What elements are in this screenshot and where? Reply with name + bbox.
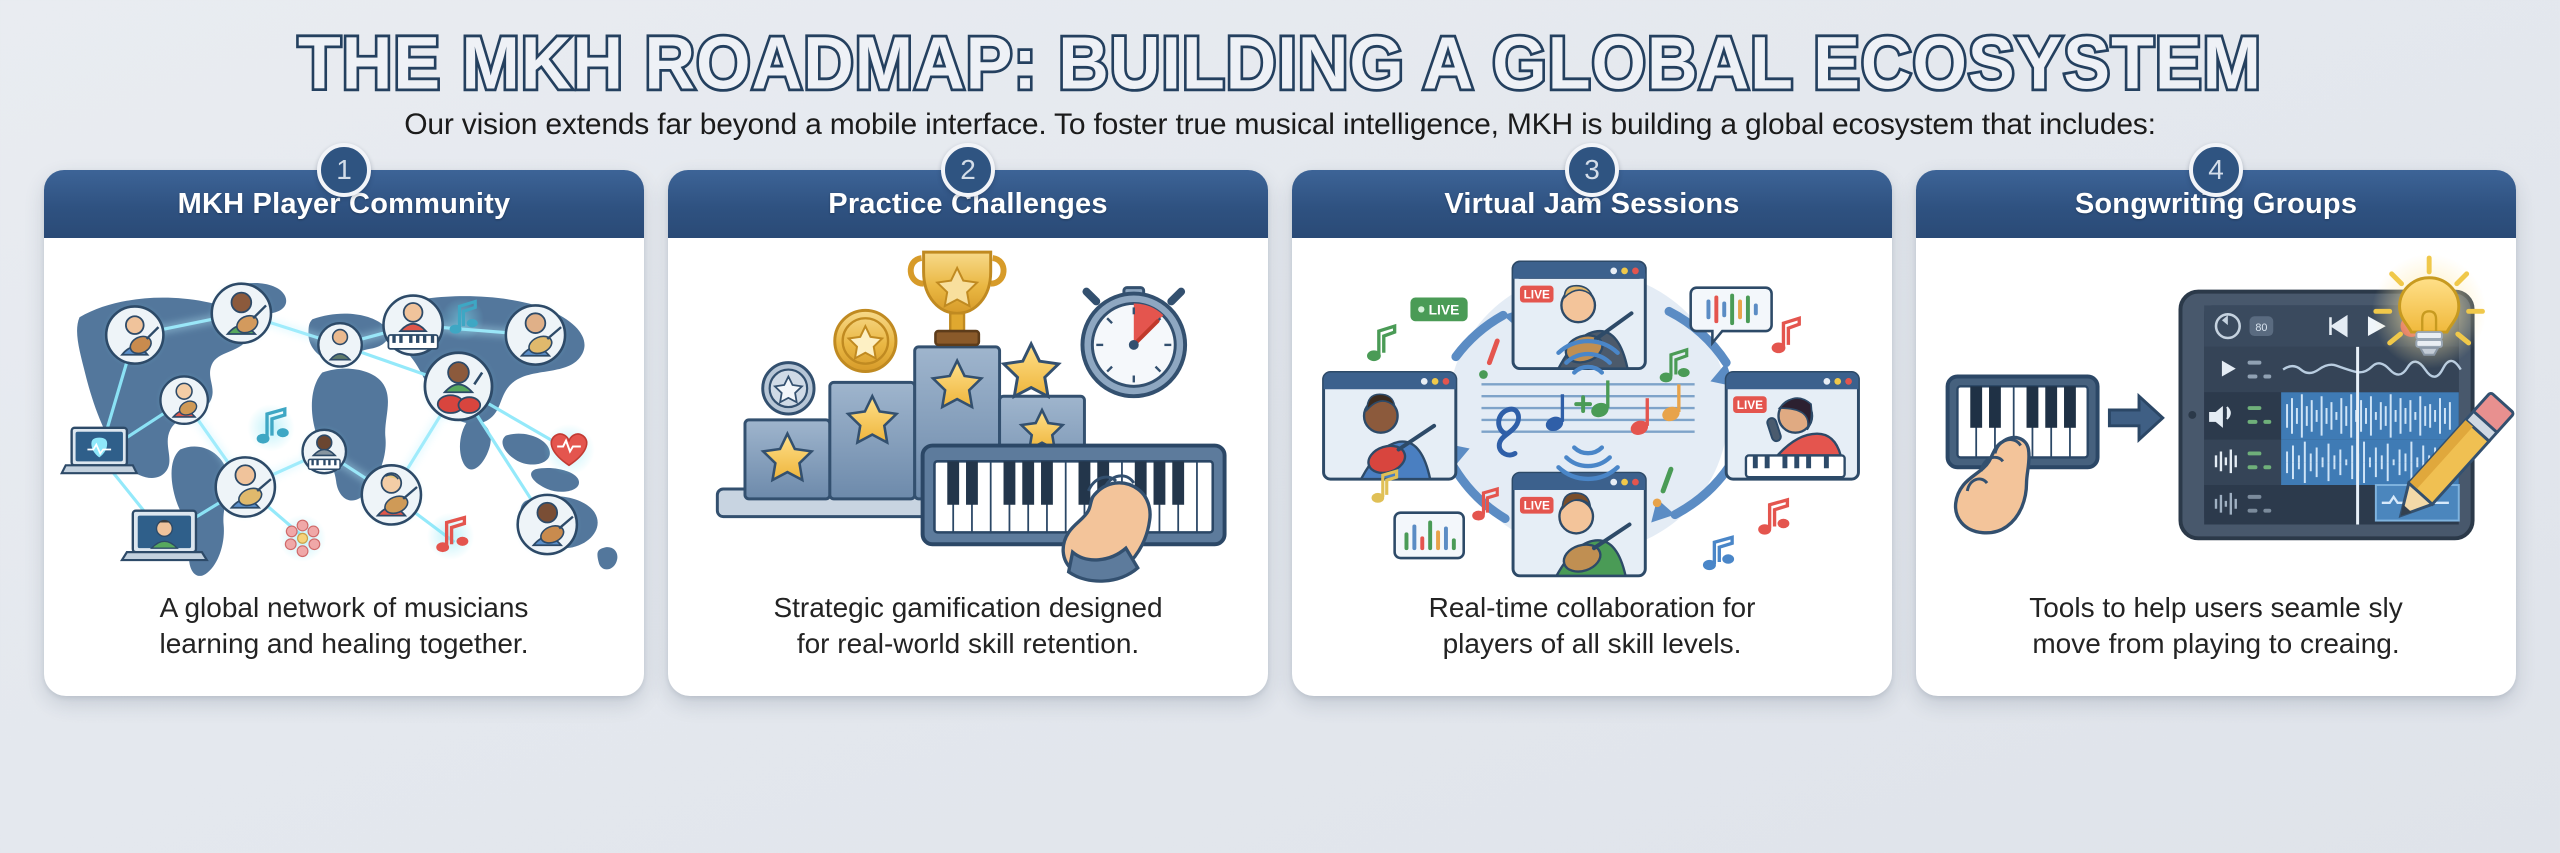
card-number-badge: 1	[317, 143, 371, 197]
video-window-guitarist-bottom: LIVE	[1513, 473, 1645, 576]
silver-medal-icon	[763, 363, 814, 414]
video-window-guitarist-top: LIVE	[1513, 262, 1645, 369]
equalizer-card-icon	[1395, 513, 1464, 558]
roadmap-card-practice[interactable]: 2 Practice Challenges	[668, 170, 1268, 696]
playhead	[2356, 347, 2359, 525]
card-caption: A global network of musicians learning a…	[44, 586, 644, 688]
page-subtitle: Our vision extends far beyond a mobile i…	[0, 108, 2560, 142]
laptop-heartbeat-icon	[62, 428, 137, 473]
live-pill-label: LIVE	[1429, 301, 1460, 317]
video-window-bassist-left	[1324, 373, 1456, 480]
illustration-world-map-network	[44, 238, 644, 586]
illustration-keyboard-to-daw: 80	[1916, 238, 2516, 586]
caption-line-1: A global network of musicians	[74, 590, 614, 626]
card-number-badge: 3	[1565, 143, 1619, 197]
video-window-singer-right: LIVE	[1726, 373, 1858, 480]
lightbulb-idea-icon	[2372, 254, 2486, 368]
card-caption: Tools to help users seamle sly move from…	[1916, 586, 2516, 688]
music-note-icon-blue	[441, 298, 484, 341]
page-title: THE MKH ROADMAP: BUILDING A GLOBAL ECOSY…	[0, 26, 2560, 100]
caption-line-2: learning and healing together.	[74, 626, 614, 662]
page-header: THE MKH ROADMAP: BUILDING A GLOBAL ECOSY…	[0, 0, 2560, 142]
card-caption: Real-time collaboration for players of a…	[1292, 586, 1892, 688]
heartbeat-heart-icon	[543, 424, 594, 475]
illustration-live-jam-circle: LIVE	[1292, 238, 1892, 586]
card-number-badge: 2	[941, 143, 995, 197]
live-badge-label: LIVE	[1737, 398, 1763, 412]
laptop-video-call-icon	[122, 511, 207, 560]
svg-text:80: 80	[2255, 322, 2267, 334]
gold-medal-icon	[835, 310, 896, 371]
roadmap-card-songwriting[interactable]: 4 Songwriting Groups	[1916, 170, 2516, 696]
roadmap-card-community[interactable]: 1 MKH Player Community	[44, 170, 644, 696]
flower-healing-icon	[279, 515, 326, 562]
caption-line-1: Tools to help users seamle sly	[1946, 590, 2486, 626]
live-badge-label: LIVE	[1524, 288, 1550, 302]
caption-line-2: for real-world skill retention.	[698, 626, 1238, 662]
roadmap-card-jam-sessions[interactable]: 3 Virtual Jam Sessions	[1292, 170, 1892, 696]
roadmap-card-row: 1 MKH Player Community	[0, 170, 2560, 696]
live-badge-label: LIVE	[1524, 499, 1550, 513]
card-number-badge: 4	[2189, 143, 2243, 197]
caption-line-2: move from playing to creaing.	[1946, 626, 2486, 662]
page-title-text: THE MKH ROADMAP: BUILDING A GLOBAL ECOSY…	[298, 26, 2262, 100]
music-note-icon-cyan	[247, 404, 294, 451]
live-status-pill: LIVE	[1410, 298, 1467, 322]
illustration-podium-trophy-keyboard	[668, 238, 1268, 586]
caption-line-1: Real-time collaboration for	[1322, 590, 1862, 626]
card-caption: Strategic gamification designed for real…	[668, 586, 1268, 688]
caption-line-2: players of all skill levels.	[1322, 626, 1862, 662]
caption-line-1: Strategic gamification designed	[698, 590, 1238, 626]
stopwatch-icon	[1082, 288, 1185, 397]
music-note-icon-red	[427, 513, 474, 560]
